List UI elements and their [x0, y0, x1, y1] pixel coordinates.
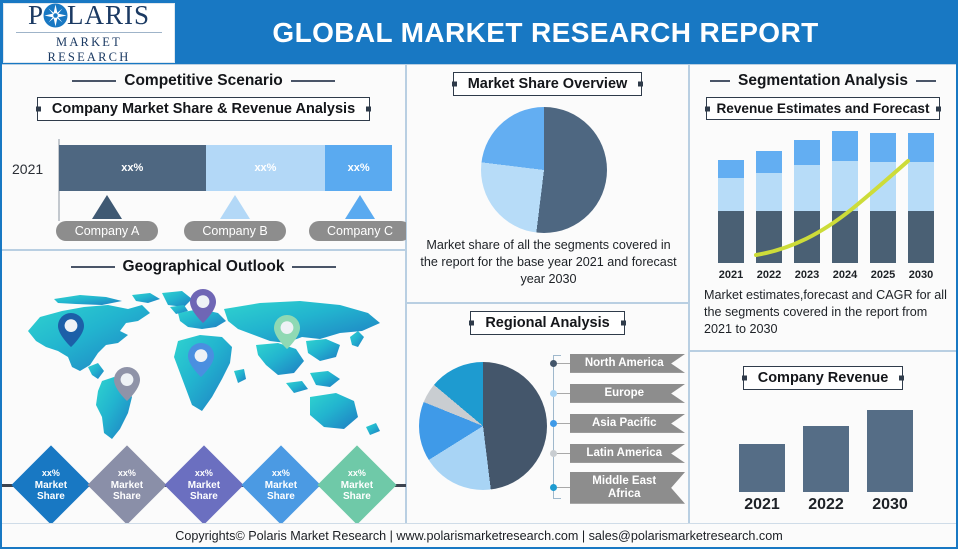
segmentation-note: Market estimates,forecast and CAGR for a… [704, 287, 948, 338]
rule-right [291, 80, 335, 82]
rev-xlabel-2030: 2030 [867, 496, 913, 514]
stack-2024-low [832, 211, 858, 263]
stack-2030-low [908, 211, 934, 263]
regional-dot-latin-america [550, 450, 557, 457]
company-revenue-boxed-title: Company Revenue [743, 366, 904, 390]
legend-pill-company-c: Company C [309, 221, 411, 241]
regional-boxed-title: Regional Analysis [470, 311, 624, 335]
competitive-boxed-title-wrap: Company Market Share & Revenue Analysis [2, 97, 405, 121]
diamond-3-line2: Share [190, 491, 218, 502]
regional-leader-line [557, 423, 570, 424]
geo-section-heading: Geographical Outlook [2, 258, 405, 276]
rev-xlabel-2021: 2021 [739, 496, 785, 514]
diamond-2-pct: xx% [118, 468, 136, 478]
stack-2021-high [718, 160, 744, 178]
stack-2025-high [870, 133, 896, 162]
map-pin-north-america [58, 313, 84, 347]
regional-item-europe[interactable]: Europe [549, 384, 685, 403]
rev-bar-2021 [739, 444, 785, 492]
regional-label-asia-pacific: Asia Pacific [570, 414, 686, 433]
rev-bar-2030 [867, 410, 913, 492]
page-header: P LARIS MARKET RESEARCH GLOBAL MARKET RE… [2, 2, 956, 64]
diamond-3-line1: Market [188, 479, 220, 490]
regional-boxed-title-wrap: Regional Analysis [407, 311, 688, 335]
revenue-estimates-chart: 2021 2022 2023 2024 2025 2030 [712, 131, 940, 281]
stack-2021-low [718, 211, 744, 263]
world-map [10, 287, 398, 447]
seg-xlabel-2030: 2030 [904, 269, 938, 281]
diamond-2-line1: Market [111, 479, 143, 490]
regional-dot-middle-east-africa [550, 484, 557, 491]
panel-company-revenue: Company Revenue 2021 2022 2030 [689, 351, 956, 527]
regional-item-middle-east-africa[interactable]: Middle EastAfrica [549, 472, 685, 504]
legend-pill-company-b: Company B [184, 221, 286, 241]
diamond-1-line1: Market [35, 479, 67, 490]
diamond-market-share-1: xx% Market Share [11, 445, 90, 524]
stack-2025-mid [870, 162, 896, 211]
segmentation-boxed-title: Revenue Estimates and Forecast [706, 97, 939, 120]
diamond-market-share-4: xx% Market Share [241, 445, 320, 524]
revenue-estimates-x-labels: 2021 2022 2023 2024 2025 2030 [712, 269, 940, 281]
stack-2022 [756, 151, 782, 263]
diamond-5-line1: Market [341, 479, 373, 490]
map-pin-europe [190, 289, 216, 323]
bar-segment-company-b: xx% [206, 145, 326, 191]
diamond-2-line2: Share [113, 491, 141, 502]
diamond-5-line2: Share [343, 491, 371, 502]
market-share-diamond-row: xx% Market Share xx% Market Share [2, 449, 406, 521]
bar-segment-company-c: xx% [325, 145, 392, 191]
competitive-boxed-title: Company Market Share & Revenue Analysis [37, 97, 370, 121]
polaris-logo: P LARIS MARKET RESEARCH [3, 3, 175, 63]
logo-subtitle: MARKET RESEARCH [16, 32, 162, 65]
market-share-boxed-title: Market Share Overview [453, 72, 643, 96]
page-footer: Copyrights© Polaris Market Research | ww… [2, 523, 956, 547]
regional-label-europe: Europe [570, 384, 686, 403]
seg-xlabel-2023: 2023 [790, 269, 824, 281]
logo-wordmark: P LARIS [28, 2, 150, 29]
legend-pill-company-a: Company A [56, 221, 158, 241]
seg-xlabel-2021: 2021 [714, 269, 748, 281]
mea-line2: Africa [608, 488, 641, 500]
stack-2023-low [794, 211, 820, 263]
panel-geographical-outlook: Geographical Outlook [2, 250, 406, 527]
seg-xlabel-2022: 2022 [752, 269, 786, 281]
stack-2030-mid [908, 162, 934, 211]
stack-2025-low [870, 211, 896, 263]
regional-dot-north-america [550, 360, 557, 367]
marker-triangle-company-c [345, 195, 375, 219]
stack-2022-mid [756, 173, 782, 211]
regional-label-latin-america: Latin America [570, 444, 686, 463]
rule-left [710, 80, 730, 82]
diamond-market-share-2: xx% Market Share [88, 445, 167, 524]
diamond-1-pct: xx% [42, 468, 60, 478]
regional-legend-list: North America Europe Asia Pacific Latin … [549, 352, 685, 502]
mea-line1: Middle East [592, 475, 656, 487]
rule-left [72, 80, 116, 82]
rule-right [916, 80, 936, 82]
stack-2023-high [794, 140, 820, 165]
regional-label-north-america: North America [570, 354, 686, 373]
logo-letters-rest: LARIS [67, 2, 150, 29]
panel-competitive-scenario: Competitive Scenario Company Market Shar… [2, 64, 406, 250]
panel-regional-analysis: Regional Analysis North America Europe [406, 303, 689, 527]
company-revenue-boxed-title-wrap: Company Revenue [690, 366, 956, 390]
map-pin-south-america [114, 367, 140, 401]
company-market-share-chart: 2021 xx% xx% xx% Company A Company B Com… [2, 139, 406, 249]
page-title: GLOBAL MARKET RESEARCH REPORT [175, 17, 956, 49]
competitive-section-title: Competitive Scenario [124, 72, 283, 90]
content-grid: Competitive Scenario Company Market Shar… [2, 64, 956, 527]
stack-2030 [908, 133, 934, 263]
logo-letter-p: P [28, 2, 44, 29]
competitive-year-label: 2021 [12, 161, 43, 177]
map-pin-asia [274, 315, 300, 349]
panel-segmentation-analysis: Segmentation Analysis Revenue Estimates … [689, 64, 956, 351]
regional-label-middle-east-africa: Middle EastAfrica [570, 472, 686, 504]
stack-2023-mid [794, 165, 820, 211]
company-revenue-chart: 2021 2022 2030 [714, 404, 938, 514]
stack-2030-high [908, 133, 934, 162]
stack-2022-low [756, 211, 782, 263]
revenue-estimates-bars [712, 133, 940, 263]
marker-triangle-company-a [92, 195, 122, 219]
stack-2024-high [832, 131, 858, 161]
market-share-pie-chart [481, 107, 607, 233]
regional-leader-line [557, 363, 570, 364]
rev-xlabel-2022: 2022 [803, 496, 849, 514]
report-infographic: P LARIS MARKET RESEARCH GLOBAL MARKET RE… [0, 0, 958, 549]
geo-section-title: Geographical Outlook [123, 258, 285, 276]
diamond-4-line2: Share [267, 491, 295, 502]
rev-bar-2022 [803, 426, 849, 492]
segmentation-section-heading: Segmentation Analysis [690, 72, 956, 90]
seg-xlabel-2024: 2024 [828, 269, 862, 281]
bar-segment-company-a: xx% [59, 145, 206, 191]
marker-triangle-company-b [220, 195, 250, 219]
stack-2021 [718, 160, 744, 263]
stack-2024-mid [832, 161, 858, 211]
company-revenue-bars [714, 404, 938, 492]
segmentation-section-title: Segmentation Analysis [738, 72, 908, 90]
competitive-stacked-bar: xx% xx% xx% [59, 145, 392, 191]
rule-left [71, 266, 115, 268]
seg-xlabel-2025: 2025 [866, 269, 900, 281]
regional-dot-europe [550, 390, 557, 397]
regional-leader-line [557, 453, 570, 454]
stack-2021-mid [718, 178, 744, 211]
market-share-note: Market share of all the segments covered… [417, 237, 680, 288]
diamond-market-share-5: xx% Market Share [318, 445, 397, 524]
segmentation-boxed-title-wrap: Revenue Estimates and Forecast [690, 97, 956, 120]
diamond-1-line2: Share [37, 491, 65, 502]
diamond-4-pct: xx% [272, 468, 290, 478]
stack-2024 [832, 131, 858, 263]
regional-leader-line [557, 393, 570, 394]
stack-2025 [870, 133, 896, 263]
regional-item-latin-america[interactable]: Latin America [549, 444, 685, 463]
regional-leader-line [557, 487, 570, 488]
diamond-3-pct: xx% [195, 468, 213, 478]
company-revenue-x-labels: 2021 2022 2030 [714, 496, 938, 514]
stack-2023 [794, 140, 820, 263]
stack-2022-high [756, 151, 782, 173]
map-pin-africa [188, 343, 214, 377]
regional-item-asia-pacific[interactable]: Asia Pacific [549, 414, 685, 433]
panel-market-share-overview: Market Share Overview Market share of al… [406, 64, 689, 303]
diamond-5-pct: xx% [348, 468, 366, 478]
regional-dot-asia-pacific [550, 420, 557, 427]
diamond-4-line1: Market [265, 479, 297, 490]
competitive-section-heading: Competitive Scenario [2, 72, 405, 90]
diamond-market-share-3: xx% Market Share [164, 445, 243, 524]
compass-star-icon [43, 3, 68, 28]
regional-item-north-america[interactable]: North America [549, 354, 685, 373]
footer-copyright-text: Copyrights© Polaris Market Research | ww… [175, 529, 782, 543]
rule-right [292, 266, 336, 268]
regional-pie-chart [419, 362, 547, 490]
market-share-boxed-title-wrap: Market Share Overview [407, 72, 688, 96]
